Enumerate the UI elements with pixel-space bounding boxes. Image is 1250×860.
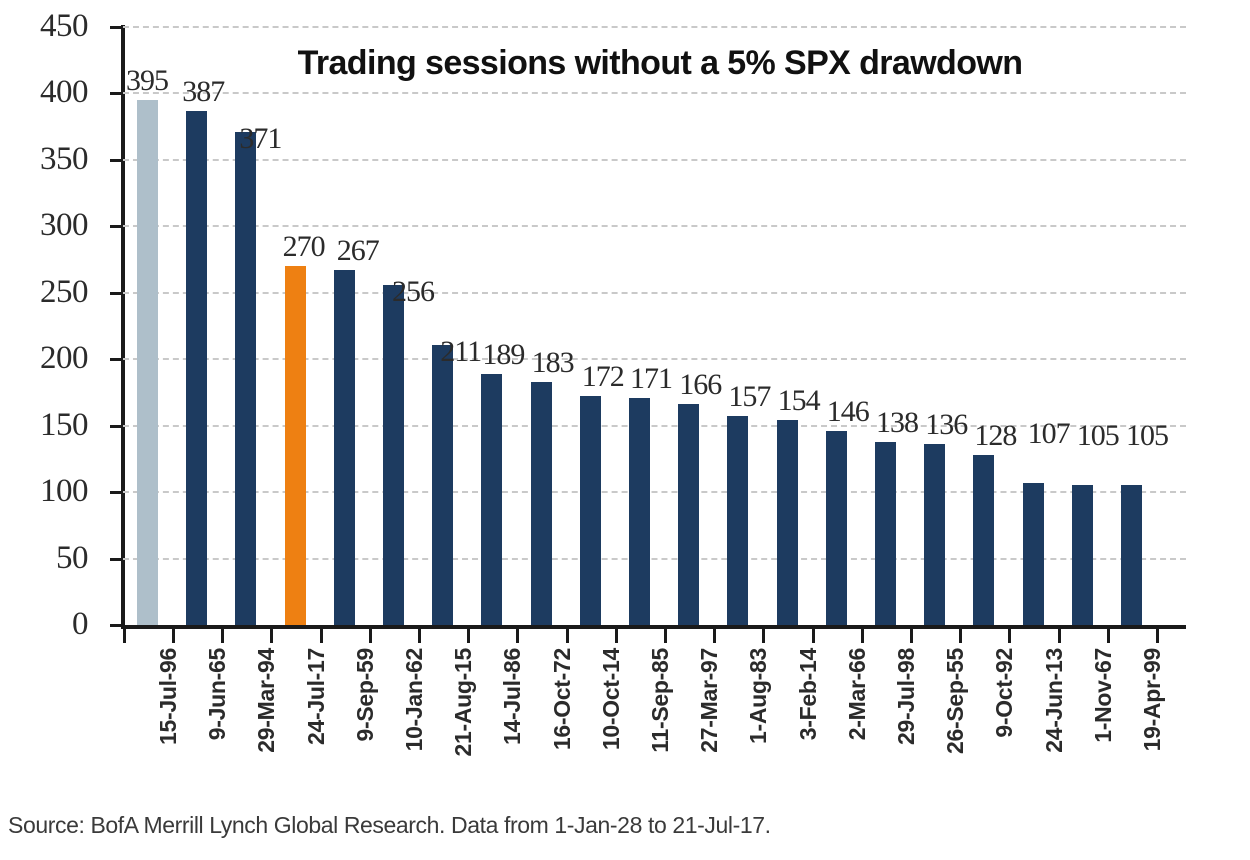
bar-value-label: 183 bbox=[532, 348, 574, 378]
x-tick-mark bbox=[516, 629, 519, 643]
x-axis-label-text: 27-Mar-97 bbox=[698, 648, 721, 753]
x-axis-line bbox=[121, 625, 1186, 629]
y-tick-label: 300 bbox=[2, 209, 88, 242]
x-axis-label-text: 19-Apr-99 bbox=[1141, 648, 1164, 751]
y-tick-label: 250 bbox=[2, 276, 88, 309]
bar[interactable] bbox=[1023, 483, 1044, 625]
x-tick-mark bbox=[123, 629, 126, 643]
bar[interactable] bbox=[727, 416, 748, 625]
y-tick-label: 150 bbox=[2, 409, 88, 442]
gridline bbox=[123, 358, 1186, 360]
x-tick-mark bbox=[221, 629, 224, 643]
x-axis-label: 11-Sep-85 bbox=[649, 648, 672, 753]
bar[interactable] bbox=[580, 396, 601, 625]
gridline bbox=[123, 225, 1186, 227]
bar[interactable] bbox=[334, 270, 355, 625]
gridline bbox=[123, 292, 1186, 294]
x-axis-label-text: 1-Nov-67 bbox=[1092, 648, 1115, 743]
x-tick-mark bbox=[762, 629, 765, 643]
x-axis-label: 16-Oct-72 bbox=[551, 648, 574, 750]
bar-value-label: 138 bbox=[876, 408, 918, 438]
bar-value-label: 146 bbox=[827, 397, 869, 427]
bar-value-label: 166 bbox=[679, 370, 721, 400]
y-tick-mark bbox=[110, 491, 123, 494]
x-tick-mark bbox=[270, 629, 273, 643]
x-axis-label-text: 16-Oct-72 bbox=[551, 648, 574, 750]
x-tick-mark bbox=[910, 629, 913, 643]
x-axis-label-text: 2-Mar-66 bbox=[846, 648, 869, 740]
y-tick-mark bbox=[110, 425, 123, 428]
y-tick-mark bbox=[110, 225, 123, 228]
x-axis-label-text: 11-Sep-85 bbox=[649, 648, 672, 753]
x-axis-label-text: 29-Mar-94 bbox=[255, 648, 278, 753]
x-axis-label-text: 9-Jun-65 bbox=[206, 648, 229, 740]
x-axis-label-text: 24-Jul-17 bbox=[305, 648, 328, 745]
x-axis-label: 9-Oct-92 bbox=[993, 648, 1016, 738]
y-tick-mark bbox=[110, 358, 123, 361]
x-axis-label: 2-Mar-66 bbox=[846, 648, 869, 740]
bar[interactable] bbox=[137, 100, 158, 625]
bar[interactable] bbox=[629, 398, 650, 625]
y-tick-label: 400 bbox=[2, 76, 88, 109]
y-tick-mark bbox=[110, 558, 123, 561]
gridline bbox=[123, 92, 1186, 94]
bar-value-label: 267 bbox=[337, 236, 379, 266]
x-axis-label: 29-Jul-98 bbox=[895, 648, 918, 745]
y-tick-label: 450 bbox=[2, 10, 88, 43]
x-tick-mark bbox=[172, 629, 175, 643]
bar-value-label: 256 bbox=[392, 277, 434, 307]
x-tick-mark bbox=[467, 629, 470, 643]
x-tick-mark bbox=[861, 629, 864, 643]
x-tick-mark bbox=[1008, 629, 1011, 643]
x-axis-label: 10-Oct-14 bbox=[600, 648, 623, 750]
x-tick-mark bbox=[812, 629, 815, 643]
x-axis-label: 1-Nov-67 bbox=[1092, 648, 1115, 743]
y-tick-label: 50 bbox=[2, 542, 88, 575]
x-tick-mark bbox=[369, 629, 372, 643]
x-axis-label-text: 10-Jan-62 bbox=[403, 648, 426, 751]
bar[interactable] bbox=[924, 444, 945, 625]
bar-value-label: 395 bbox=[126, 66, 168, 96]
y-tick-label: 350 bbox=[2, 143, 88, 176]
x-axis-label-text: 21-Aug-15 bbox=[452, 648, 475, 757]
x-axis-label: 9-Sep-59 bbox=[354, 648, 377, 741]
bar[interactable] bbox=[235, 132, 256, 625]
x-tick-mark bbox=[664, 629, 667, 643]
x-axis-label: 3-Feb-14 bbox=[797, 648, 820, 740]
x-axis-label-text: 14-Jul-86 bbox=[501, 648, 524, 745]
x-tick-mark bbox=[713, 629, 716, 643]
y-tick-mark bbox=[110, 26, 123, 29]
x-axis-label-text: 10-Oct-14 bbox=[600, 648, 623, 750]
x-axis-label: 27-Mar-97 bbox=[698, 648, 721, 753]
bar[interactable] bbox=[1121, 485, 1142, 625]
x-tick-mark bbox=[418, 629, 421, 643]
bar-value-label: 154 bbox=[778, 386, 820, 416]
x-tick-mark bbox=[615, 629, 618, 643]
x-tick-mark bbox=[959, 629, 962, 643]
x-tick-mark bbox=[1058, 629, 1061, 643]
bar[interactable] bbox=[383, 285, 404, 625]
bar[interactable] bbox=[285, 266, 306, 625]
x-axis-label: 10-Jan-62 bbox=[403, 648, 426, 751]
bar-value-label: 211 bbox=[440, 337, 481, 367]
x-axis-label-text: 9-Sep-59 bbox=[354, 648, 377, 741]
bar-chart: Trading sessions without a 5% SPX drawdo… bbox=[0, 0, 1250, 860]
x-tick-mark bbox=[320, 629, 323, 643]
x-axis-label-text: 9-Oct-92 bbox=[993, 648, 1016, 738]
bar[interactable] bbox=[481, 374, 502, 625]
x-axis-label: 24-Jun-13 bbox=[1043, 648, 1066, 753]
bar-value-label: 189 bbox=[482, 340, 524, 370]
bar[interactable] bbox=[531, 382, 552, 625]
y-tick-label: 0 bbox=[2, 608, 88, 641]
bar-value-label: 128 bbox=[974, 421, 1016, 451]
y-tick-mark bbox=[110, 159, 123, 162]
bar-value-label: 105 bbox=[1126, 421, 1168, 451]
bar[interactable] bbox=[432, 345, 453, 625]
bar[interactable] bbox=[973, 455, 994, 625]
bar-value-label: 371 bbox=[239, 124, 281, 154]
bar-value-label: 105 bbox=[1077, 421, 1119, 451]
source-note: Source: BofA Merrill Lynch Global Resear… bbox=[8, 812, 771, 838]
x-tick-mark bbox=[1156, 629, 1159, 643]
x-axis-label-text: 26-Sep-55 bbox=[944, 648, 967, 754]
bar-value-label: 270 bbox=[283, 232, 325, 262]
x-axis-label-text: 24-Jun-13 bbox=[1043, 648, 1066, 753]
x-axis-label: 1-Aug-83 bbox=[747, 648, 770, 744]
x-axis-label: 24-Jul-17 bbox=[305, 648, 328, 745]
y-tick-mark bbox=[110, 92, 123, 95]
bar-value-label: 136 bbox=[925, 410, 967, 440]
bar[interactable] bbox=[678, 404, 699, 625]
x-axis-label: 26-Sep-55 bbox=[944, 648, 967, 754]
x-axis-label-text: 3-Feb-14 bbox=[797, 648, 820, 740]
gridline bbox=[123, 26, 1186, 28]
footer-divider bbox=[0, 794, 1250, 795]
bar-value-label: 107 bbox=[1028, 419, 1070, 449]
bar[interactable] bbox=[826, 431, 847, 625]
bar[interactable] bbox=[186, 111, 207, 625]
x-axis-label: 29-Mar-94 bbox=[255, 648, 278, 753]
x-axis-label: 19-Apr-99 bbox=[1141, 648, 1164, 751]
x-axis-label: 14-Jul-86 bbox=[501, 648, 524, 745]
x-axis-label-text: 29-Jul-98 bbox=[895, 648, 918, 745]
bar-value-label: 387 bbox=[182, 77, 224, 107]
bar-value-label: 172 bbox=[582, 362, 624, 392]
x-axis-label: 21-Aug-15 bbox=[452, 648, 475, 757]
x-axis-label-text: 1-Aug-83 bbox=[747, 648, 770, 744]
y-axis-line bbox=[121, 25, 125, 628]
bar[interactable] bbox=[777, 420, 798, 625]
x-tick-mark bbox=[1107, 629, 1110, 643]
y-tick-label: 100 bbox=[2, 475, 88, 508]
gridline bbox=[123, 159, 1186, 161]
y-tick-mark bbox=[110, 292, 123, 295]
bar[interactable] bbox=[1072, 485, 1093, 625]
x-tick-mark bbox=[566, 629, 569, 643]
bar-value-label: 157 bbox=[728, 382, 770, 412]
x-axis-label-text: 15-Jul-96 bbox=[157, 648, 180, 745]
y-tick-mark bbox=[110, 624, 123, 627]
x-axis-label: 9-Jun-65 bbox=[206, 648, 229, 740]
gridline bbox=[123, 425, 1186, 427]
bar[interactable] bbox=[875, 442, 896, 625]
bar-value-label: 171 bbox=[630, 364, 672, 394]
y-tick-label: 200 bbox=[2, 342, 88, 375]
x-axis-label: 15-Jul-96 bbox=[157, 648, 180, 745]
